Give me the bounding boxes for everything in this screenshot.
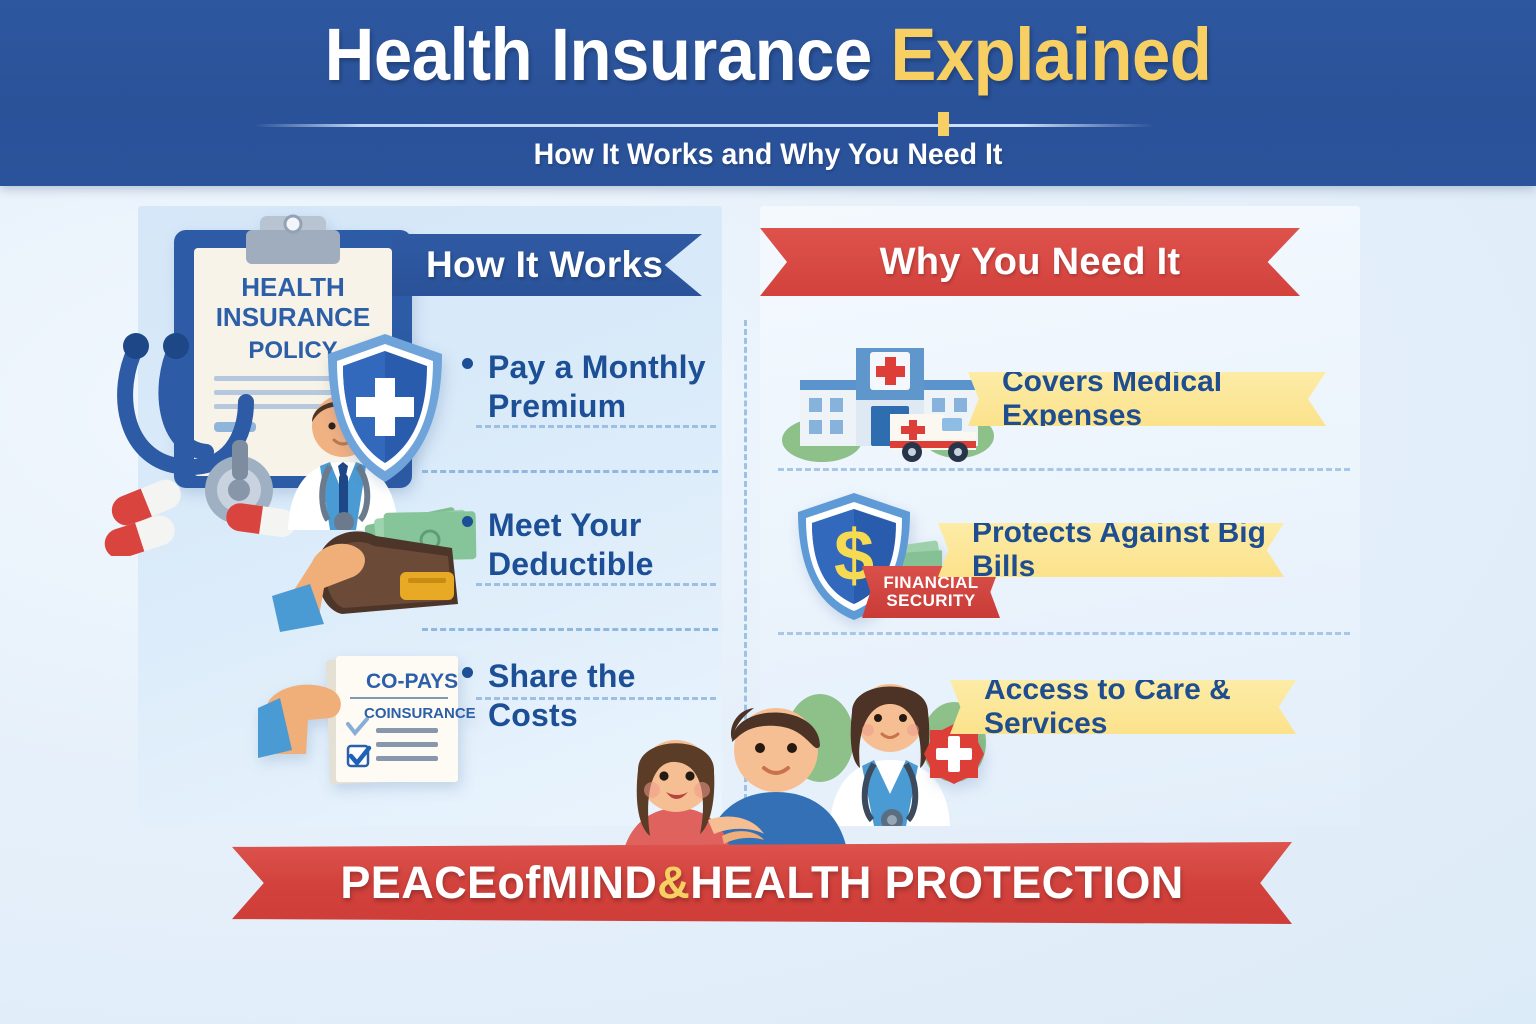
footer-text-part-2: MIND <box>541 857 658 909</box>
why-you-need-it-item-1: Covers Medical Expenses <box>968 372 1326 426</box>
page-title-accent: Explained <box>890 13 1211 96</box>
footer-banner: PEACE of MIND & HEALTH PROTECTION <box>232 842 1292 924</box>
copays-subtitle: COINSURANCE <box>364 705 476 722</box>
item-1-underline <box>476 425 716 428</box>
how-it-works-item-1: Pay a Monthly Premium <box>488 348 718 426</box>
row-separator-1 <box>422 470 718 473</box>
page-subtitle: How It Works and Why You Need It <box>38 138 1497 172</box>
title-divider-tick <box>938 112 949 136</box>
item-2-underline <box>476 583 716 586</box>
copays-title: CO-PAYS <box>366 670 458 693</box>
bullet-icon <box>462 667 473 678</box>
infographic-canvas: Health Insurance Explained How It Works … <box>0 0 1536 1024</box>
bullet-icon <box>462 516 473 527</box>
title-divider-line <box>254 124 1154 127</box>
why-you-need-it-item-1-label: Covers Medical Expenses <box>1002 365 1326 433</box>
bullet-icon <box>462 358 473 369</box>
how-it-works-item-2: Meet Your Deductible <box>488 506 718 584</box>
footer-text-lower: of <box>497 857 540 909</box>
hand-holding-wallet-with-money <box>272 492 502 632</box>
blue-shield-with-medical-cross <box>320 330 450 490</box>
row-separator-2 <box>422 628 718 631</box>
page-header: Health Insurance Explained How It Works … <box>0 0 1536 186</box>
right-row-separator-2 <box>778 632 1350 635</box>
how-it-works-banner: How It Works <box>392 234 702 296</box>
hospital-building-with-ambulance <box>782 336 997 464</box>
how-it-works-item-2-label: Meet Your Deductible <box>488 507 654 582</box>
why-you-need-it-item-3-label: Access to Care & Services <box>984 673 1296 741</box>
how-it-works-banner-label: How It Works <box>426 244 663 286</box>
why-you-need-it-banner-label: Why You Need It <box>880 241 1181 284</box>
page-title: Health Insurance Explained <box>54 18 1482 92</box>
how-it-works-item-1-label: Pay a Monthly Premium <box>488 349 706 424</box>
why-you-need-it-banner: Why You Need It <box>760 228 1300 296</box>
why-you-need-it-item-2-label: Protects Against Big Bills <box>972 516 1284 584</box>
why-you-need-it-item-2: Protects Against Big Bills <box>938 523 1284 577</box>
footer-text-part-1: PEACE <box>340 857 497 909</box>
clipboard-line-2: INSURANCE <box>216 302 371 332</box>
footer-ampersand: & <box>657 857 690 909</box>
why-you-need-it-item-3: Access to Care & Services <box>950 680 1296 734</box>
footer-text-part-3: HEALTH PROTECTION <box>690 857 1183 909</box>
page-title-primary: Health Insurance <box>325 13 872 96</box>
financial-security-badge-line-2: SECURITY <box>886 592 975 610</box>
right-row-separator-1 <box>778 468 1350 471</box>
clipboard-line-1: HEALTH <box>241 272 345 302</box>
